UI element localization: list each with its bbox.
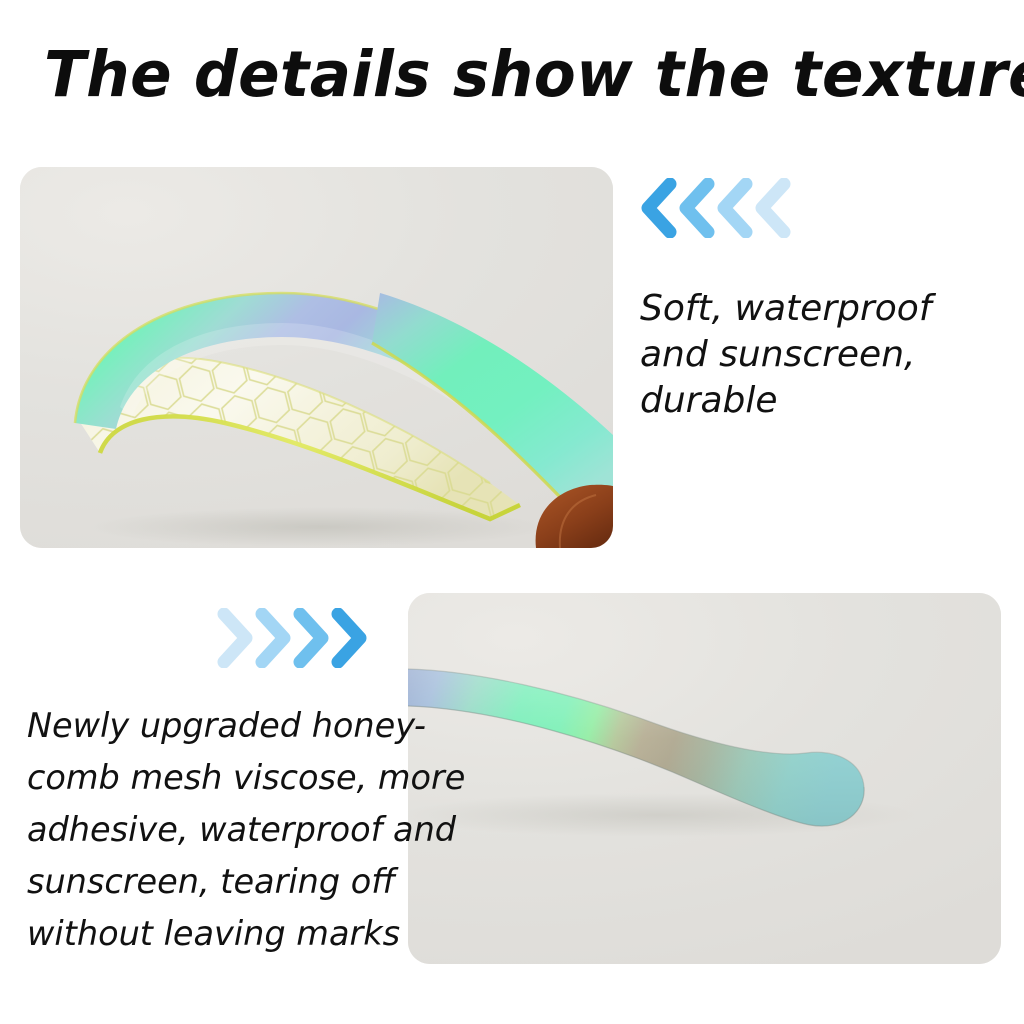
chevron-group-left (638, 178, 796, 238)
product-photo-card-top (20, 167, 613, 548)
chevron-right-icon (326, 608, 370, 668)
chevron-group-right (212, 608, 370, 668)
tape-strip-illustration (408, 593, 1001, 964)
tape-loop-svg (20, 167, 613, 548)
feature-text-bottom: Newly upgraded honey- comb mesh viscose,… (27, 700, 407, 960)
infographic-canvas: The details show the texture (0, 0, 1024, 1024)
feature-text-right-line: Soft, waterproof (640, 286, 1012, 332)
feature-text-bottom-line: without leaving marks (27, 908, 407, 960)
feature-text-bottom-line: sunscreen, tearing off (27, 856, 407, 908)
product-photo-card-bottom (408, 593, 1001, 964)
feature-text-right: Soft, waterproof and sunscreen, durable (640, 286, 1012, 424)
page-title: The details show the texture (44, 38, 956, 111)
feature-text-bottom-line: comb mesh viscose, more (27, 752, 407, 804)
feature-text-bottom-line: adhesive, waterproof and (27, 804, 407, 856)
feature-text-bottom-line: Newly upgraded honey- (27, 700, 407, 752)
feature-text-right-line: durable (640, 378, 1012, 424)
feature-text-right-line: and sunscreen, (640, 332, 1012, 378)
chevron-left-icon (752, 178, 796, 238)
tape-loop-illustration (20, 167, 613, 548)
tape-strip-svg (408, 593, 1001, 964)
